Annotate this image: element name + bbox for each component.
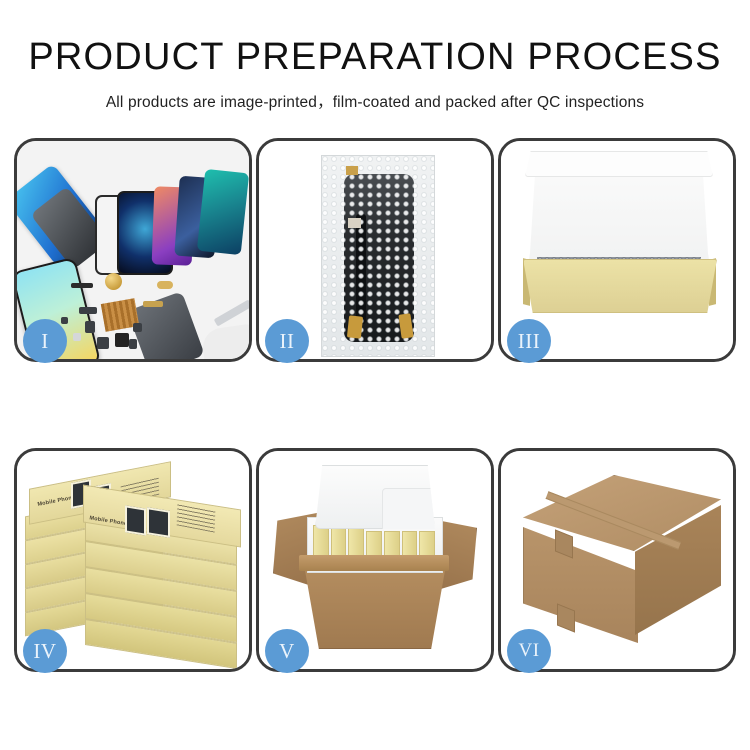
panel-4-step-badge: IV [23, 629, 67, 673]
flex-cable-left [347, 315, 363, 338]
process-panel-5[interactable]: V [256, 448, 494, 672]
panel-6-step-badge: VI [507, 629, 551, 673]
box-art-swatch-3 [125, 505, 146, 535]
small-component-part [129, 339, 137, 349]
ic-chip-part [115, 333, 129, 347]
process-panel-1[interactable]: I [14, 138, 252, 362]
antenna-strip [71, 283, 93, 288]
process-panel-6[interactable]: VI [498, 448, 736, 672]
phone-display-teal [197, 169, 249, 255]
flex-cable-right [398, 313, 413, 338]
technician-hand [200, 324, 249, 359]
box-lid-lip [525, 151, 713, 177]
page-title: PRODUCT PREPARATION PROCESS [0, 38, 750, 78]
gold-contact-strip [143, 301, 163, 307]
button-part [133, 323, 142, 332]
process-panel-4[interactable]: Mobile Phone Spare Parts Mobile Phone Sp… [14, 448, 252, 672]
box-art-swatch-4 [147, 507, 170, 538]
gold-flex-connector [157, 281, 173, 289]
page-subtitle: All products are image-printed，film-coat… [0, 90, 750, 112]
page-header: PRODUCT PREPARATION PROCESS All products… [0, 0, 750, 112]
panel-3-step-badge: III [507, 319, 551, 363]
box-tray-yellow [523, 259, 717, 313]
foam-lid [315, 465, 435, 529]
speaker-module [105, 273, 122, 290]
process-panel-3[interactable]: III [498, 138, 736, 362]
camera-module-part [85, 321, 95, 333]
panel-1-step-badge: I [23, 319, 67, 363]
process-panel-2[interactable]: II [256, 138, 494, 362]
repair-tweezers-icon [214, 300, 249, 327]
process-panel-grid: I II III [14, 138, 736, 672]
screw-part [61, 317, 68, 324]
carton-rim [299, 555, 449, 571]
panel-5-step-badge: V [265, 629, 309, 673]
protective-tab-top [346, 166, 358, 175]
connector-part [97, 337, 109, 349]
bubble-wrap-bag [321, 155, 435, 357]
flex-cable-part [79, 307, 97, 314]
box-stack: Mobile Phone Spare Parts Mobile Phone Sp… [25, 469, 239, 657]
panel-2-step-badge: II [265, 319, 309, 363]
sim-tray-part [73, 333, 81, 341]
protective-tab-mid [348, 218, 361, 228]
